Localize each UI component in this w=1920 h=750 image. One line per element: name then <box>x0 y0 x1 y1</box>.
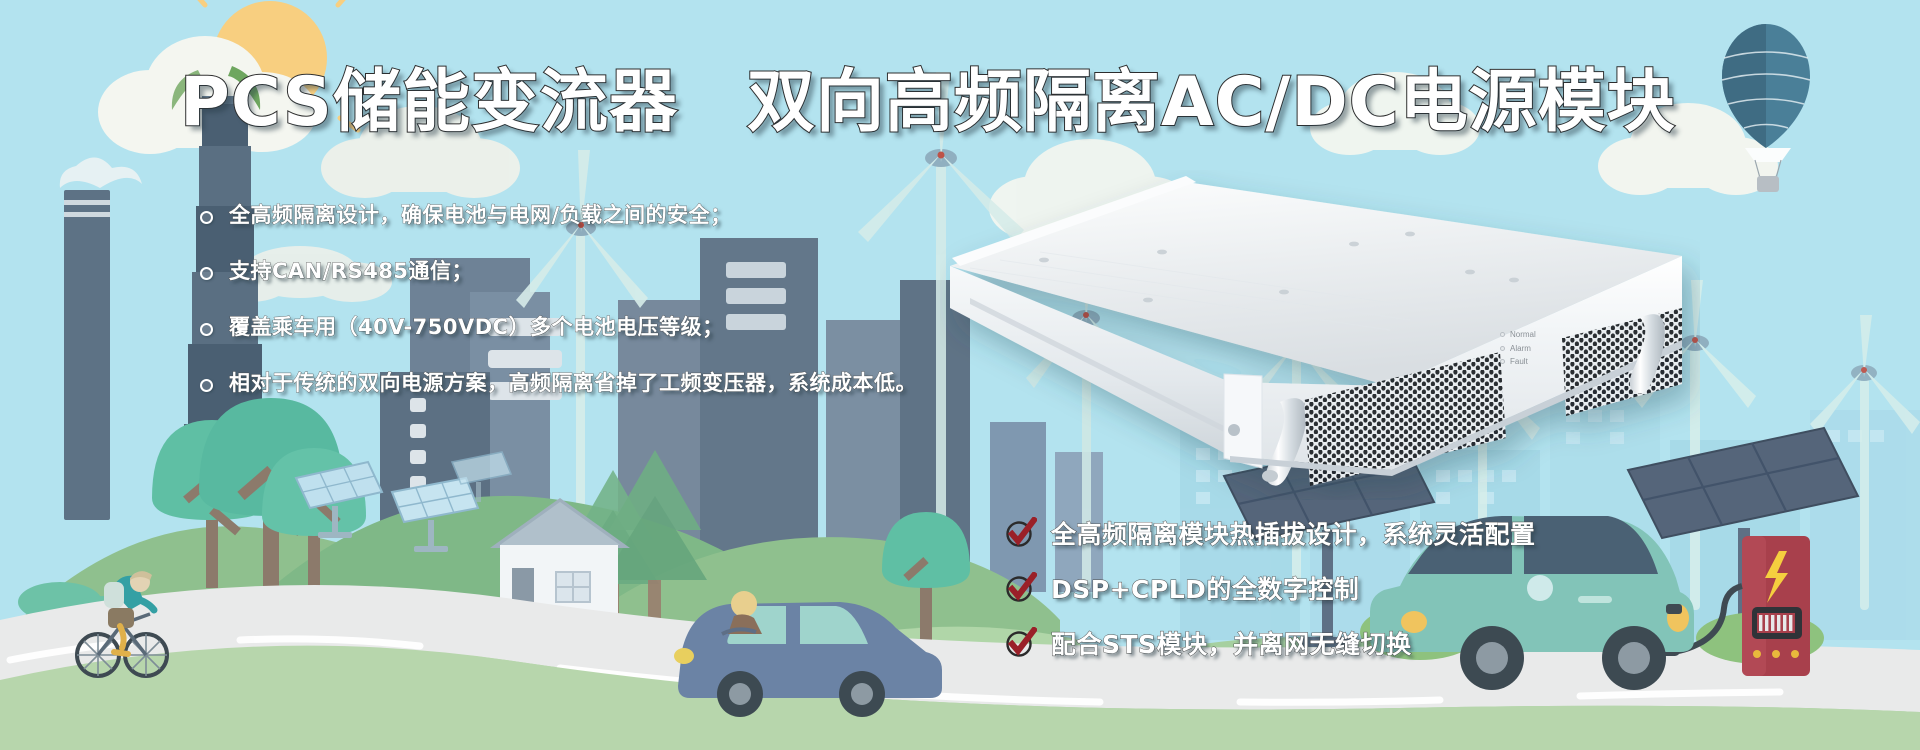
list-item: 相对于传统的双向电源方案，高频隔离省掉了工频变压器，系统成本低。 <box>200 368 920 398</box>
led-label-alarm: Alarm <box>1510 342 1531 356</box>
circle-bullet-icon <box>200 211 213 224</box>
feature-list: 全高频隔离设计，确保电池与电网/负载之间的安全； 支持CAN/RS485通信； … <box>200 200 920 424</box>
feature-text: 覆盖乘车用（40V-750VDC）多个电池电压等级； <box>229 312 724 342</box>
led-dot-icon <box>1500 346 1505 351</box>
led-row-alarm: Alarm <box>1500 342 1536 356</box>
feature-text: 全高频隔离设计，确保电池与电网/负载之间的安全； <box>229 200 732 230</box>
led-row-fault: Fault <box>1500 355 1536 369</box>
benefit-text: 配合STS模块，并离网无缝切换 <box>1051 625 1412 661</box>
led-dot-icon <box>1500 332 1505 337</box>
rack-mount-power-module <box>940 170 1700 500</box>
list-item: 全高频隔离模块热插拔设计，系统灵活配置 <box>1005 515 1665 551</box>
check-circle-icon <box>1005 517 1037 549</box>
led-label-fault: Fault <box>1510 355 1528 369</box>
product-banner: Normal Alarm Fault PCS储能变流器 双向高频隔离AC/DC电… <box>0 0 1920 750</box>
check-circle-icon <box>1005 627 1037 659</box>
list-item: 支持CAN/RS485通信； <box>200 256 920 286</box>
benefit-text: DSP+CPLD的全数字控制 <box>1051 570 1359 606</box>
led-row-normal: Normal <box>1500 328 1536 342</box>
feature-text: 相对于传统的双向电源方案，高频隔离省掉了工频变压器，系统成本低。 <box>229 368 917 398</box>
circle-bullet-icon <box>200 267 213 280</box>
led-label-normal: Normal <box>1510 328 1536 342</box>
list-item: 配合STS模块，并离网无缝切换 <box>1005 625 1665 661</box>
list-item: 全高频隔离设计，确保电池与电网/负载之间的安全； <box>200 200 920 230</box>
benefit-text: 全高频隔离模块热插拔设计，系统灵活配置 <box>1051 515 1536 551</box>
led-indicator-labels: Normal Alarm Fault <box>1500 328 1536 369</box>
benefit-list: 全高频隔离模块热插拔设计，系统灵活配置 DSP+CPLD的全数字控制 配合STS… <box>1005 515 1665 680</box>
led-dot-icon <box>1500 359 1505 364</box>
circle-bullet-icon <box>200 379 213 392</box>
check-circle-icon <box>1005 572 1037 604</box>
list-item: 覆盖乘车用（40V-750VDC）多个电池电压等级； <box>200 312 920 342</box>
list-item: DSP+CPLD的全数字控制 <box>1005 570 1665 606</box>
circle-bullet-icon <box>200 323 213 336</box>
feature-text: 支持CAN/RS485通信； <box>229 256 473 286</box>
